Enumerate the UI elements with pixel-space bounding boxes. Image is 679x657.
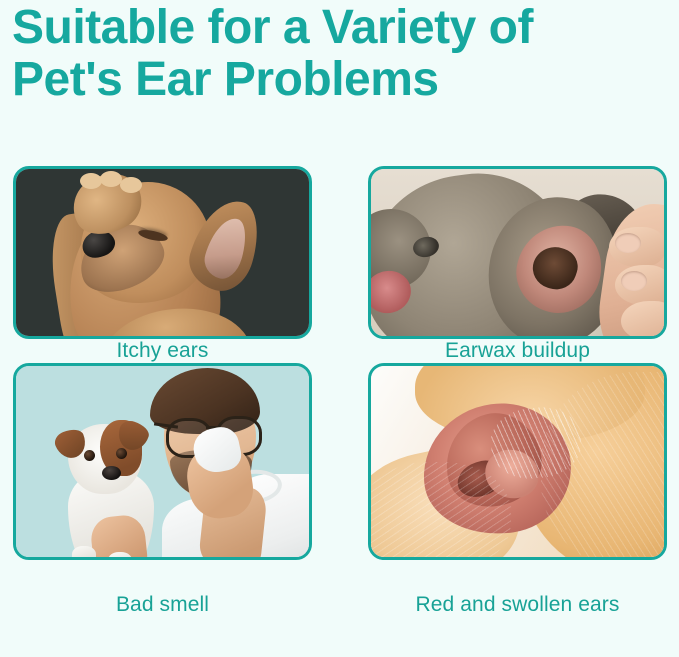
problem-card-bad-smell[interactable]: Bad smell xyxy=(13,363,312,650)
illustration-dog-scratching xyxy=(16,169,309,336)
terrier-paw xyxy=(72,546,96,557)
card-image-red-swollen-ears[interactable] xyxy=(368,363,667,560)
illustration-bad-smell xyxy=(16,366,309,557)
fingernail xyxy=(621,271,647,291)
card-image-earwax-buildup[interactable] xyxy=(368,166,667,339)
problem-card-itchy-ears[interactable]: Itchy ears xyxy=(13,166,312,363)
dog-toe xyxy=(80,173,102,189)
problem-card-earwax-buildup[interactable]: Earwax buildup xyxy=(368,166,667,363)
illustration-inflamed-ear xyxy=(371,366,664,557)
card-caption-bad-smell: Bad smell xyxy=(13,560,312,650)
dog-toe xyxy=(100,171,122,187)
fingernail xyxy=(615,233,641,253)
problem-card-red-swollen-ears[interactable]: Red and swollen ears xyxy=(368,363,667,650)
card-image-itchy-ears[interactable] xyxy=(13,166,312,339)
page-title: Suitable for a Variety of Pet's Ear Prob… xyxy=(12,2,678,106)
illustration-earwax-exam xyxy=(371,169,664,336)
terrier-nose xyxy=(102,466,121,480)
problem-card-grid: Itchy ears Earwax buildup xyxy=(13,166,667,650)
dog-toe xyxy=(120,177,142,193)
card-caption-itchy-ears: Itchy ears xyxy=(13,339,312,363)
card-caption-earwax-buildup: Earwax buildup xyxy=(368,339,667,363)
card-caption-red-swollen-ears: Red and swollen ears xyxy=(368,560,667,650)
terrier-eye xyxy=(84,450,95,461)
fur-texture-left xyxy=(371,462,511,557)
card-image-bad-smell[interactable] xyxy=(13,363,312,560)
terrier-eye xyxy=(116,448,127,459)
